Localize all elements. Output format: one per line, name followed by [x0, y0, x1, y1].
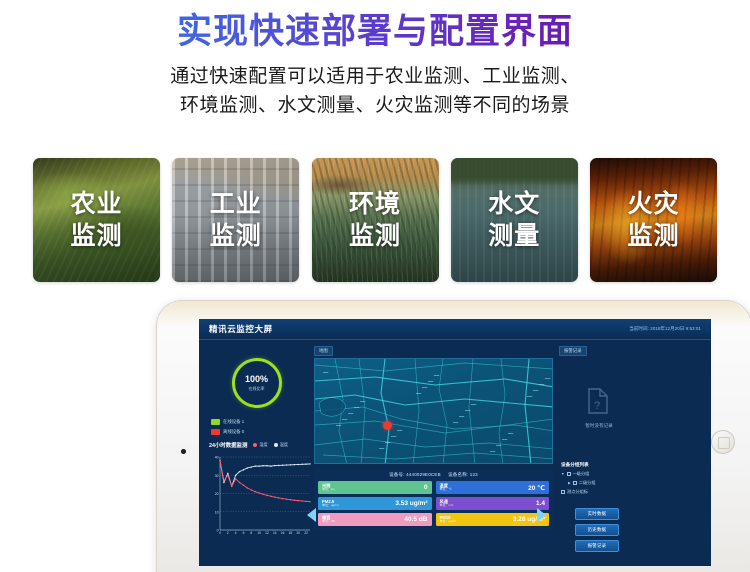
gauge-value: 100% — [245, 375, 268, 384]
alarm-empty-state: ? 暂时没有记录 — [559, 358, 639, 458]
scenario-label-line-2: 测量 — [451, 220, 578, 252]
dashboard-header: 精讯云监控大屏 当前时间: 2018年12月20日 9:53:01 — [199, 319, 711, 340]
sensor-tile-pm10[interactable]: PM10 单位：ug/m³ 3.28 ug/m³ — [436, 513, 550, 526]
sensor-tile-noise[interactable]: 噪音 单位：dB 40.5 dB — [318, 513, 432, 526]
scenario-card-label: 水文 测量 — [451, 188, 578, 252]
online-color-swatch — [211, 419, 220, 425]
tile-value: 0 — [424, 484, 428, 491]
alarm-empty-text: 暂时没有记录 — [585, 423, 613, 429]
scenario-card-industry[interactable]: 工业 监测 — [172, 158, 299, 282]
tile-name-block: 光照 单位：lux — [322, 484, 335, 492]
tablet-device-mockup: 精讯云监控大屏 当前时间: 2018年12月20日 9:53:01 100% 在… — [156, 300, 750, 572]
current-time: 当前时间: 2018年12月20日 9:53:01 — [629, 326, 701, 332]
online-ratio-gauge: 100% 在线比率 — [232, 358, 282, 408]
svg-text:▬▬: ▬▬ — [385, 441, 391, 444]
device-data-panel: 设备号: 4440029E0CEB 设备名称: 123 光照 单位：lux — [314, 469, 553, 530]
svg-text:10: 10 — [257, 531, 261, 535]
svg-text:▬▬: ▬▬ — [342, 418, 348, 421]
scenario-label-line-2: 监测 — [590, 220, 717, 252]
tree-node-label: 一级分组 — [573, 471, 590, 477]
chevron-down-icon[interactable]: ▼ — [561, 472, 565, 476]
scenario-label-line-2: 监测 — [33, 220, 160, 252]
device-location-map[interactable]: ▬▬▬▬▬▬▬▬▬▬▬▬▬▬▬▬▬▬▬▬▬▬▬▬▬▬▬▬▬▬▬▬▬▬▬▬▬▬▬▬… — [314, 358, 553, 464]
svg-text:22: 22 — [304, 531, 308, 535]
svg-text:▬▬: ▬▬ — [453, 421, 459, 424]
scenario-label-line-2: 监测 — [312, 220, 439, 252]
tile-unit: 单位：lux — [322, 488, 335, 491]
tile-value: 40.5 dB — [404, 516, 427, 523]
tile-name-block: 风速 单位：m/s — [440, 500, 454, 508]
svg-text:▬▬: ▬▬ — [422, 386, 428, 389]
chevron-right-icon[interactable]: ▶ — [568, 481, 571, 485]
home-button[interactable] — [711, 430, 735, 454]
scenario-card-fire[interactable]: 火灾 监测 — [590, 158, 717, 282]
svg-text:4: 4 — [235, 531, 237, 535]
device-identity-line: 设备号: 4440029E0CEB 设备名称: 123 — [318, 472, 549, 478]
chart-canvas: 0102030400246810121416182022 — [209, 453, 313, 541]
svg-text:0: 0 — [219, 531, 221, 535]
scenario-label-line-1: 水文 — [451, 188, 578, 220]
legend-label: 在线设备 1 — [223, 419, 244, 425]
svg-text:30: 30 — [215, 474, 219, 478]
legend-item-offline: 离线设备 0 — [211, 429, 306, 435]
legend-label: 离线设备 0 — [223, 429, 244, 435]
svg-text:40: 40 — [215, 456, 219, 460]
history-data-button[interactable]: 历史数据 — [575, 524, 619, 536]
tile-unit: 单位：m/s — [440, 504, 454, 507]
svg-text:▬▬: ▬▬ — [471, 403, 477, 406]
subtitle-line-2: 环境监测、水文测量、火灾监测等不同的场景 — [0, 92, 750, 121]
folder-icon — [567, 472, 571, 476]
tile-unit: 单位：℃ — [440, 488, 452, 491]
svg-text:▬▬: ▬▬ — [539, 383, 545, 386]
scenario-card-label: 环境 监测 — [312, 188, 439, 252]
device-name: 设备名称: 123 — [448, 472, 478, 477]
document-question-icon: ? — [586, 387, 612, 417]
series-name: 温度 — [280, 442, 288, 448]
svg-text:▬▬: ▬▬ — [323, 371, 329, 374]
svg-text:10: 10 — [215, 510, 219, 514]
dashboard-title: 精讯云监控大屏 — [209, 323, 273, 335]
tile-value: 1.4 — [536, 500, 545, 507]
tile-value: 3.28 ug/m³ — [513, 516, 545, 523]
tree-title: 设备分组列表 — [561, 462, 705, 468]
sensor-tile-grid: 光照 单位：lux 0 PM2.5 单位：ug/m³ — [318, 481, 549, 526]
svg-text:20: 20 — [215, 492, 219, 496]
scenario-label-line-1: 火灾 — [590, 188, 717, 220]
tile-unit: 单位：ug/m³ — [440, 520, 457, 523]
tree-node-measure-point[interactable]: 测点分组标 — [561, 489, 705, 495]
page-subtitle: 通过快速配置可以适用于农业监测、工业监测、 环境监测、水文测量、火灾监测等不同的… — [0, 63, 750, 120]
sensor-tile-pm25[interactable]: PM2.5 单位：ug/m³ 3.53 ug/m³ — [318, 497, 432, 510]
svg-text:12: 12 — [265, 531, 269, 535]
folder-icon — [561, 490, 565, 494]
svg-text:▬▬: ▬▬ — [527, 395, 533, 398]
chart-legend-temperature: 温度 — [274, 442, 288, 448]
series-color-dot — [274, 443, 278, 447]
svg-text:?: ? — [594, 400, 600, 412]
scenario-card-environment[interactable]: 环境 监测 — [312, 158, 439, 282]
chart-header: 24小时数据监测 湿度 温度 — [207, 441, 306, 449]
map-panel-tag: 地图 — [314, 346, 333, 356]
folder-icon — [573, 481, 577, 485]
scenario-card-label: 火灾 监测 — [590, 188, 717, 252]
scenario-label-line-1: 农业 — [33, 188, 160, 220]
svg-text:▬▬: ▬▬ — [360, 400, 366, 403]
dashboard-center-column: 地图 ▬▬▬▬▬▬▬▬▬▬▬▬▬▬▬▬▬▬▬▬▬▬▬▬▬▬▬▬▬▬▬▬▬▬▬▬▬… — [312, 340, 555, 566]
svg-text:20: 20 — [296, 531, 300, 535]
svg-text:▬▬: ▬▬ — [416, 392, 422, 395]
svg-text:▬▬: ▬▬ — [502, 438, 508, 441]
svg-text:18: 18 — [289, 531, 293, 535]
svg-text:▬▬: ▬▬ — [397, 429, 403, 432]
front-camera-icon — [181, 449, 186, 454]
online-gauge-wrapper: 100% 在线比率 — [207, 347, 306, 419]
dashboard-screen: 精讯云监控大屏 当前时间: 2018年12月20日 9:53:01 100% 在… — [199, 319, 711, 566]
tree-node-label: 测点分组标 — [567, 489, 588, 495]
svg-text:▬▬: ▬▬ — [391, 435, 397, 438]
legend-item-online: 在线设备 1 — [211, 419, 306, 425]
device-group-tree: 设备分组列表 ▼ 一级分组 ▶ 二级分组 — [559, 462, 705, 495]
scenario-card-agriculture[interactable]: 农业 监测 — [33, 158, 160, 282]
chart-title: 24小时数据监测 — [209, 441, 247, 449]
page-title: 实现快速部署与配置界面 — [0, 12, 750, 51]
svg-text:▬▬: ▬▬ — [459, 415, 465, 418]
series-color-dot — [253, 443, 257, 447]
scenario-label-line-2: 监测 — [172, 220, 299, 252]
tile-unit: 单位：ug/m³ — [322, 504, 339, 507]
scenario-card-hydrology[interactable]: 水文 测量 — [451, 158, 578, 282]
gauge-caption: 在线比率 — [249, 386, 265, 392]
svg-text:▬▬: ▬▬ — [533, 389, 539, 392]
svg-text:16: 16 — [281, 531, 285, 535]
promo-page: 实现快速部署与配置界面 通过快速配置可以适用于农业监测、工业监测、 环境监测、水… — [0, 12, 750, 572]
device-id: 设备号: 4440029E0CEB — [389, 472, 441, 477]
svg-text:▬▬: ▬▬ — [545, 377, 551, 380]
scenario-card-label: 工业 监测 — [172, 188, 299, 252]
sensor-tile-temperature[interactable]: 温度 单位：℃ 20 ℃ — [436, 481, 550, 494]
svg-text:14: 14 — [273, 531, 277, 535]
sensor-tile-column-right: 温度 单位：℃ 20 ℃ 风速 单位：m/s — [436, 481, 550, 526]
svg-text:▬▬: ▬▬ — [348, 412, 354, 415]
svg-text:▬▬: ▬▬ — [496, 444, 502, 447]
tile-name-block: 噪音 单位：dB — [322, 516, 335, 524]
svg-text:▬▬: ▬▬ — [508, 432, 514, 435]
svg-text:▬▬: ▬▬ — [354, 406, 360, 409]
svg-text:2: 2 — [227, 531, 229, 535]
tile-name-block: 温度 单位：℃ — [440, 484, 452, 492]
chart-legend-humidity: 湿度 — [253, 442, 267, 448]
svg-text:8: 8 — [250, 531, 252, 535]
svg-text:6: 6 — [243, 531, 245, 535]
sensor-tile-illuminance[interactable]: 光照 单位：lux 0 — [318, 481, 432, 494]
realtime-data-button[interactable]: 实时数据 — [575, 508, 619, 520]
series-name: 湿度 — [259, 442, 267, 448]
tree-node-level1[interactable]: ▼ 一级分组 — [561, 471, 705, 477]
tile-value: 3.53 ug/m³ — [395, 500, 427, 507]
sensor-tile-windspeed[interactable]: 风速 单位：m/s 1.4 — [436, 497, 550, 510]
svg-text:▬▬: ▬▬ — [434, 374, 440, 377]
tile-unit: 单位：dB — [322, 520, 335, 523]
svg-text:▬▬: ▬▬ — [465, 409, 471, 412]
svg-text:▬▬: ▬▬ — [379, 447, 385, 450]
offline-color-swatch — [211, 429, 220, 435]
subtitle-line-1: 通过快速配置可以适用于农业监测、工业监测、 — [0, 63, 750, 92]
dashboard-body: 100% 在线比率 在线设备 1 离线设备 0 — [199, 340, 711, 566]
map-roads: ▬▬▬▬▬▬▬▬▬▬▬▬▬▬▬▬▬▬▬▬▬▬▬▬▬▬▬▬▬▬▬▬▬▬▬▬▬▬▬▬… — [315, 359, 553, 464]
dashboard-action-buttons: 实时数据 历史数据 报警记录 — [575, 508, 619, 552]
scenario-label-line-1: 环境 — [312, 188, 439, 220]
alarm-records-button[interactable]: 报警记录 — [575, 540, 619, 552]
scenario-label-line-1: 工业 — [172, 188, 299, 220]
tile-name-block: PM10 单位：ug/m³ — [440, 516, 457, 524]
tile-value: 20 ℃ — [528, 484, 545, 492]
svg-text:▬▬: ▬▬ — [336, 424, 342, 427]
svg-text:▬▬: ▬▬ — [428, 380, 434, 383]
alarm-panel-tag: 报警记录 — [559, 346, 587, 356]
tile-name-block: PM2.5 单位：ug/m³ — [322, 500, 339, 508]
svg-text:▬▬: ▬▬ — [490, 450, 496, 453]
24h-monitor-chart: 0102030400246810121416182022 — [209, 453, 313, 541]
dashboard-left-column: 100% 在线比率 在线设备 1 离线设备 0 — [199, 340, 312, 566]
sensor-tile-column-left: 光照 单位：lux 0 PM2.5 单位：ug/m³ — [318, 481, 432, 526]
map-marker-icon[interactable] — [383, 421, 392, 430]
scenario-card-list: 农业 监测 工业 监测 环境 监测 水文 测量 — [33, 158, 717, 282]
device-status-legend: 在线设备 1 离线设备 0 — [207, 419, 306, 435]
scenario-card-label: 农业 监测 — [33, 188, 160, 252]
tree-node-label: 二级分组 — [579, 480, 596, 486]
tree-node-level2[interactable]: ▶ 二级分组 — [561, 480, 705, 486]
